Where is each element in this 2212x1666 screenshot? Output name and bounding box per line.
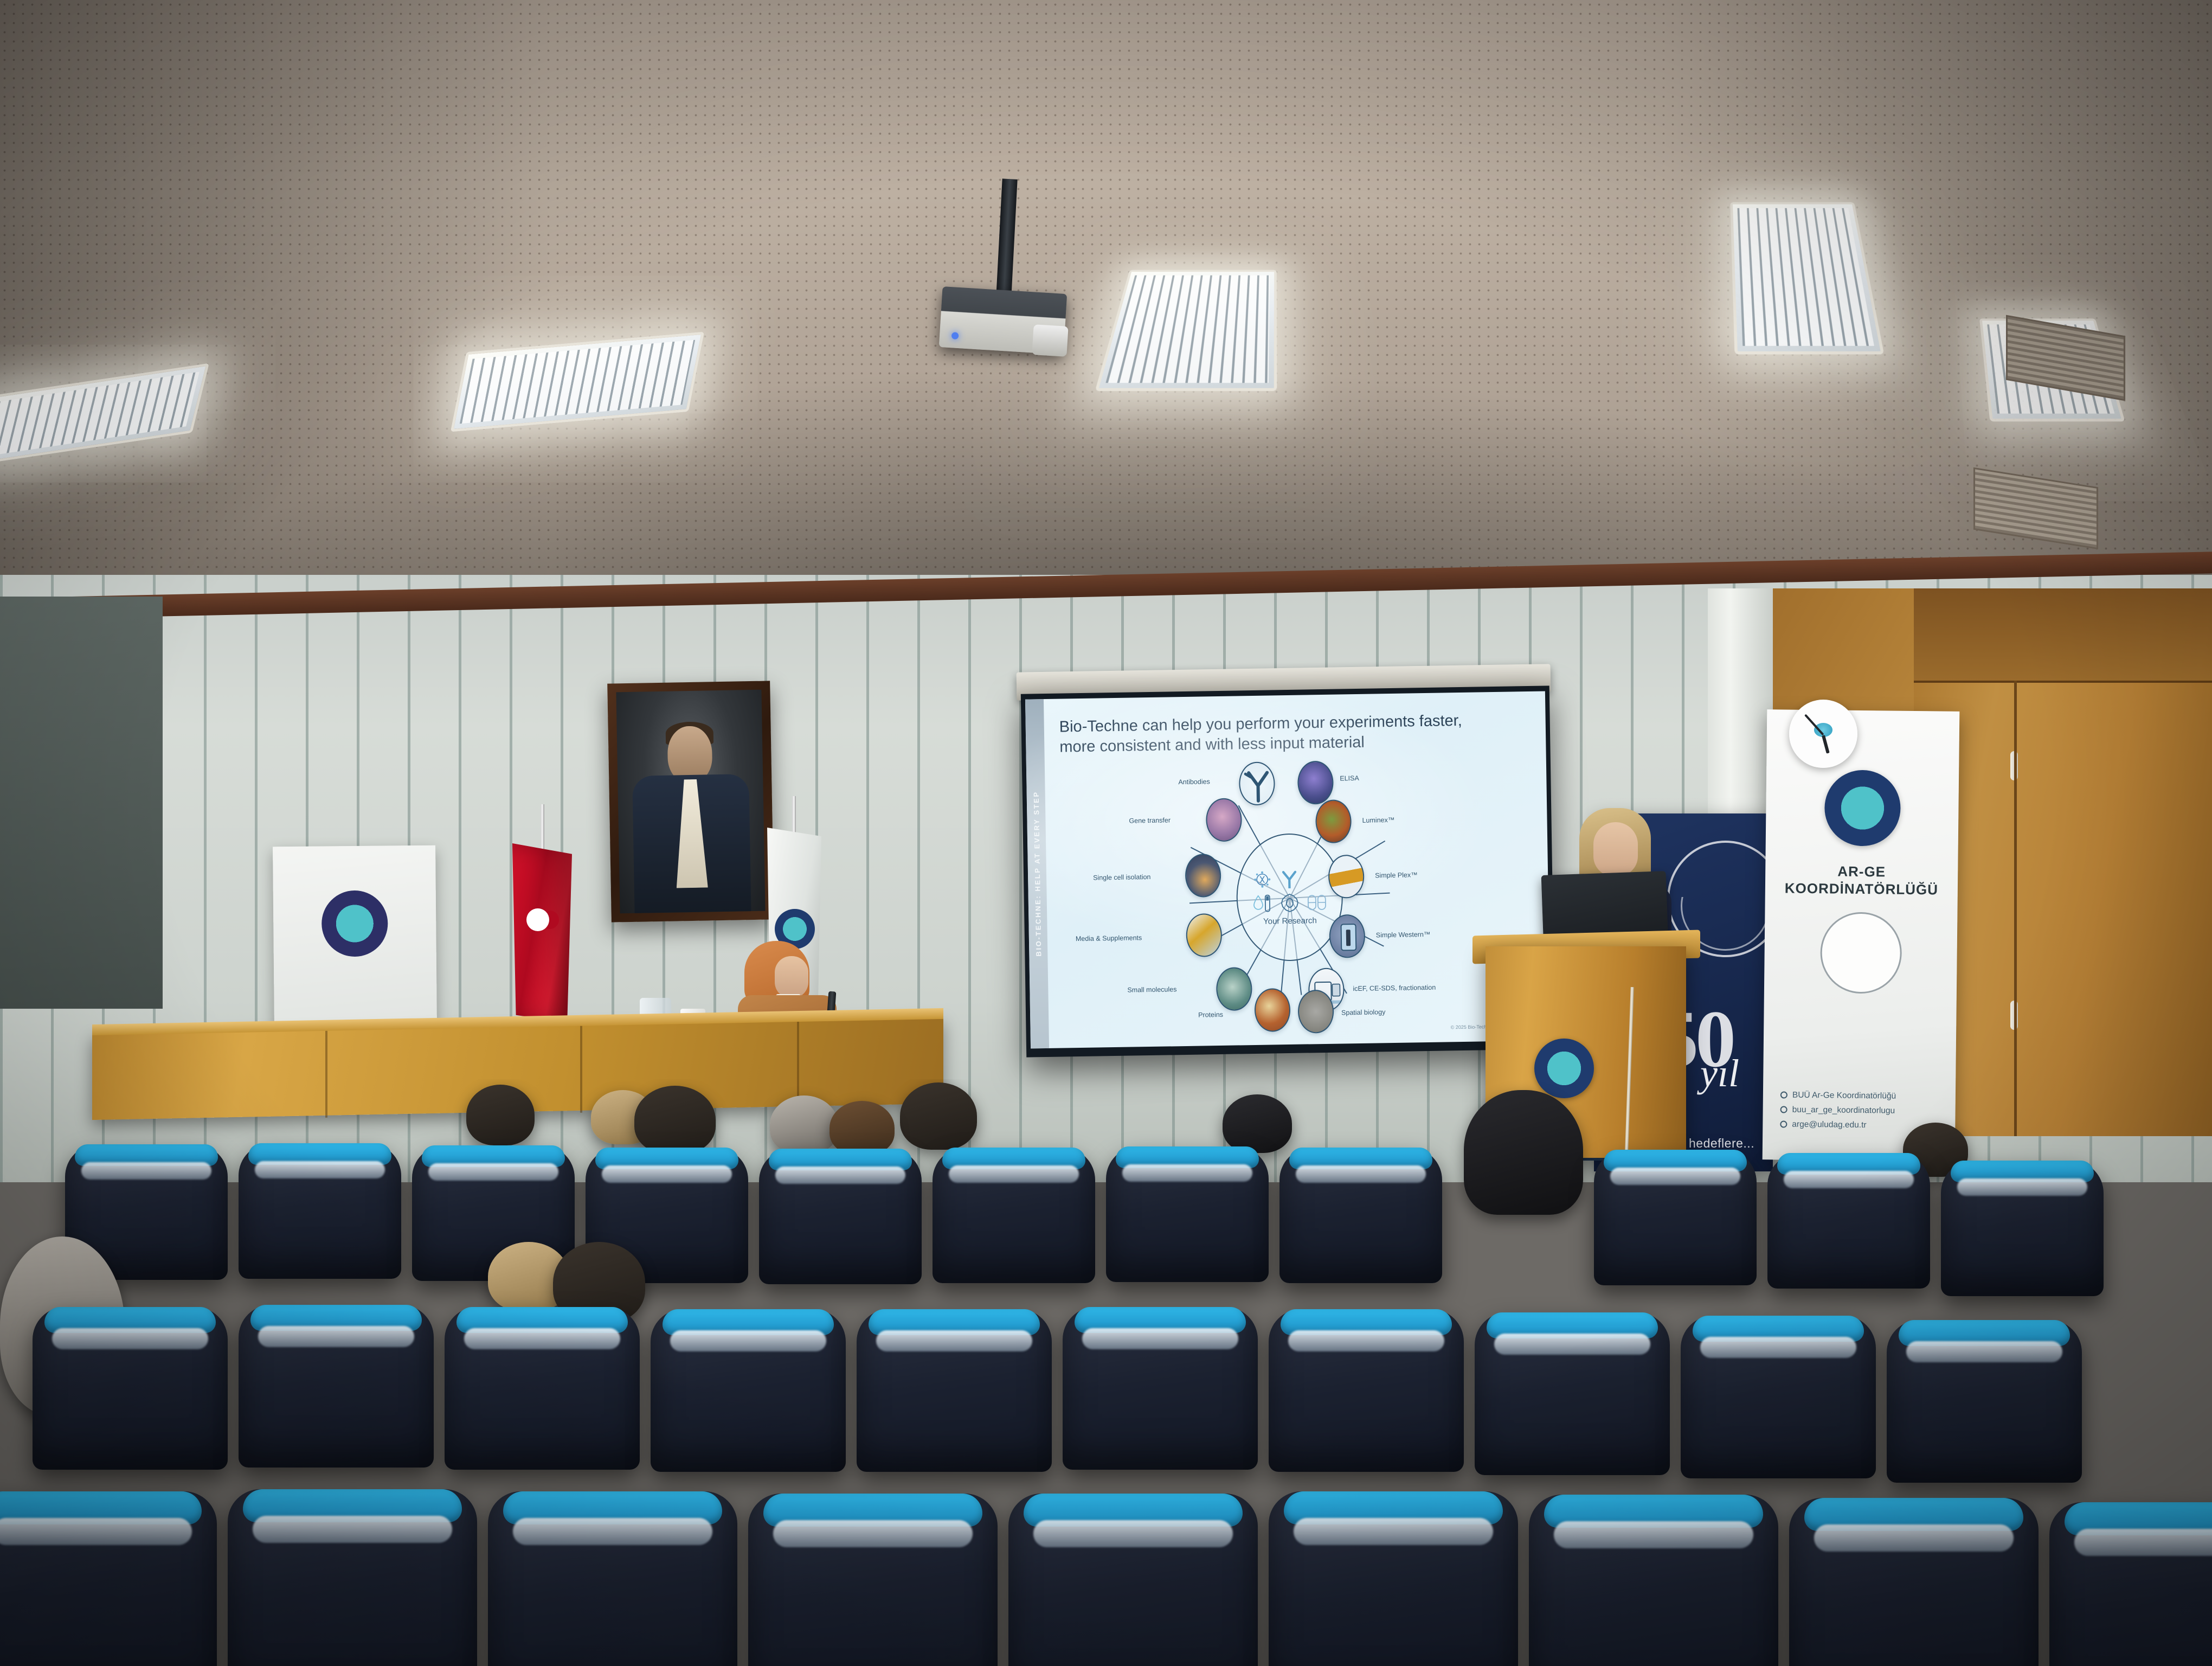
node-label-media-supplements: Media & Supplements bbox=[1076, 934, 1142, 943]
audience-member bbox=[770, 1095, 838, 1154]
projection-screen: BIO-TECHNE: HELP AT EVERY STEP Bio-Techn… bbox=[1021, 685, 1555, 1057]
spatial-biology-icon bbox=[1297, 990, 1334, 1034]
seat[interactable] bbox=[651, 1309, 846, 1472]
node-label-single-cell-isolation: Single cell isolation bbox=[1093, 873, 1151, 882]
banner-title-line-1: AR-GE bbox=[1765, 862, 1958, 881]
audience-member bbox=[900, 1082, 977, 1150]
university-seal-icon bbox=[321, 890, 388, 957]
seat[interactable] bbox=[445, 1307, 640, 1470]
seat[interactable] bbox=[759, 1149, 922, 1284]
node-label-simple-western: Simple Western™ bbox=[1376, 931, 1431, 939]
seat[interactable] bbox=[1008, 1494, 1258, 1666]
seat[interactable] bbox=[1475, 1312, 1670, 1475]
hub-label: Your Research bbox=[1263, 916, 1317, 926]
seat[interactable] bbox=[1106, 1146, 1269, 1282]
seat[interactable] bbox=[1941, 1161, 2104, 1296]
luminex-icon bbox=[1315, 799, 1352, 843]
seat[interactable] bbox=[0, 1491, 217, 1666]
node-label-elisa: ELISA bbox=[1340, 774, 1359, 783]
seat[interactable] bbox=[1063, 1307, 1258, 1470]
seat[interactable] bbox=[1681, 1316, 1876, 1478]
seat[interactable] bbox=[1529, 1495, 1778, 1666]
projector-lens-icon bbox=[1032, 324, 1068, 357]
node-label-small-molecules: Small molecules bbox=[1127, 985, 1176, 994]
droplet-pipette-icon bbox=[1250, 893, 1275, 914]
node-label-luminex: Luminex™ bbox=[1362, 816, 1394, 824]
seat[interactable] bbox=[1887, 1320, 2082, 1483]
antibody-icon bbox=[1277, 869, 1302, 890]
crescent-star-icon bbox=[526, 908, 549, 931]
banner-title-line-2: KOORDİNATÖRLÜĞÜ bbox=[1765, 880, 1958, 899]
seat[interactable] bbox=[1269, 1491, 1518, 1666]
seat[interactable] bbox=[488, 1491, 737, 1666]
slide-sidebar-text: BIO-TECHNE: HELP AT EVERY STEP bbox=[1032, 791, 1043, 957]
node-label-proteins: Proteins bbox=[1198, 1011, 1223, 1019]
clock-hour-hand bbox=[1822, 735, 1830, 753]
wall-clock bbox=[1789, 700, 1857, 768]
ceiling bbox=[0, 0, 2212, 640]
seat[interactable] bbox=[1789, 1498, 2039, 1666]
simple-plex-icon bbox=[1328, 855, 1365, 899]
single-cell-isolation-icon bbox=[1185, 854, 1221, 898]
hub-icon-set bbox=[1250, 868, 1329, 914]
wall-left-recess bbox=[0, 597, 163, 1009]
seat[interactable] bbox=[748, 1494, 998, 1666]
diagram-hub: Your Research bbox=[1236, 832, 1344, 962]
audience-member bbox=[466, 1085, 535, 1145]
capsule-icon bbox=[1304, 892, 1329, 913]
node-label-antibodies: Antibodies bbox=[1178, 778, 1210, 786]
antibody-icon bbox=[1239, 761, 1275, 805]
door-hinge-icon bbox=[2010, 1001, 2018, 1030]
simple-western-icon bbox=[1329, 914, 1365, 958]
audience-member bbox=[829, 1101, 895, 1155]
slide-title: Bio-Techne can help you perform your exp… bbox=[1059, 710, 1509, 758]
seat[interactable] bbox=[1269, 1309, 1464, 1472]
turkish-flag-cloth bbox=[512, 843, 572, 1022]
ceiling-shading bbox=[0, 0, 2212, 640]
moderator-face bbox=[775, 956, 808, 998]
audience-member bbox=[634, 1086, 716, 1154]
hub-and-spoke-diagram: Your Research Antibodies Gene transfer S… bbox=[1060, 761, 1520, 1034]
banner-title: AR-GE KOORDİNATÖRLÜĞÜ bbox=[1765, 862, 1958, 899]
node-label-gene-transfer: Gene transfer bbox=[1129, 816, 1171, 824]
seat[interactable] bbox=[239, 1305, 434, 1468]
seat[interactable] bbox=[228, 1489, 477, 1666]
seat[interactable] bbox=[1767, 1153, 1930, 1289]
conference-hall-photo: 50 BIO-TECHNE: HELP AT EVERY STEP Bio-Te… bbox=[0, 0, 2212, 1666]
node-label-icef: icEF, CE-SDS, fractionation bbox=[1353, 984, 1436, 992]
slide-sidebar: BIO-TECHNE: HELP AT EVERY STEP bbox=[1025, 699, 1049, 1048]
seat[interactable] bbox=[1279, 1148, 1442, 1283]
seat[interactable] bbox=[857, 1309, 1052, 1472]
node-label-simple-plex: Simple Plex™ bbox=[1375, 871, 1418, 879]
audience-seating bbox=[0, 1079, 2212, 1666]
seat[interactable] bbox=[1594, 1150, 1757, 1285]
small-molecules-icon bbox=[1216, 967, 1252, 1011]
door-hinge-icon bbox=[2010, 751, 2018, 780]
presenter-face bbox=[1593, 822, 1638, 876]
seat[interactable] bbox=[2049, 1502, 2212, 1666]
audience-member bbox=[1223, 1094, 1292, 1153]
university-seal-icon bbox=[1824, 770, 1900, 846]
virus-dna-icon bbox=[1250, 869, 1275, 890]
seat[interactable] bbox=[933, 1148, 1095, 1283]
wooden-door-panel[interactable] bbox=[1914, 588, 2212, 1136]
cell-icon bbox=[1277, 893, 1302, 914]
seat[interactable] bbox=[33, 1307, 228, 1470]
gene-transfer-icon bbox=[1206, 798, 1242, 842]
audience-member bbox=[1464, 1090, 1583, 1215]
seat[interactable] bbox=[239, 1143, 401, 1279]
media-supplements-icon bbox=[1186, 913, 1222, 957]
ataturk-portrait bbox=[607, 681, 774, 922]
proteins-icon bbox=[1254, 988, 1290, 1032]
elisa-icon bbox=[1297, 761, 1334, 805]
ar-ge-logo-icon bbox=[1819, 912, 1902, 994]
node-label-spatial-biology: Spatial biology bbox=[1341, 1008, 1386, 1016]
